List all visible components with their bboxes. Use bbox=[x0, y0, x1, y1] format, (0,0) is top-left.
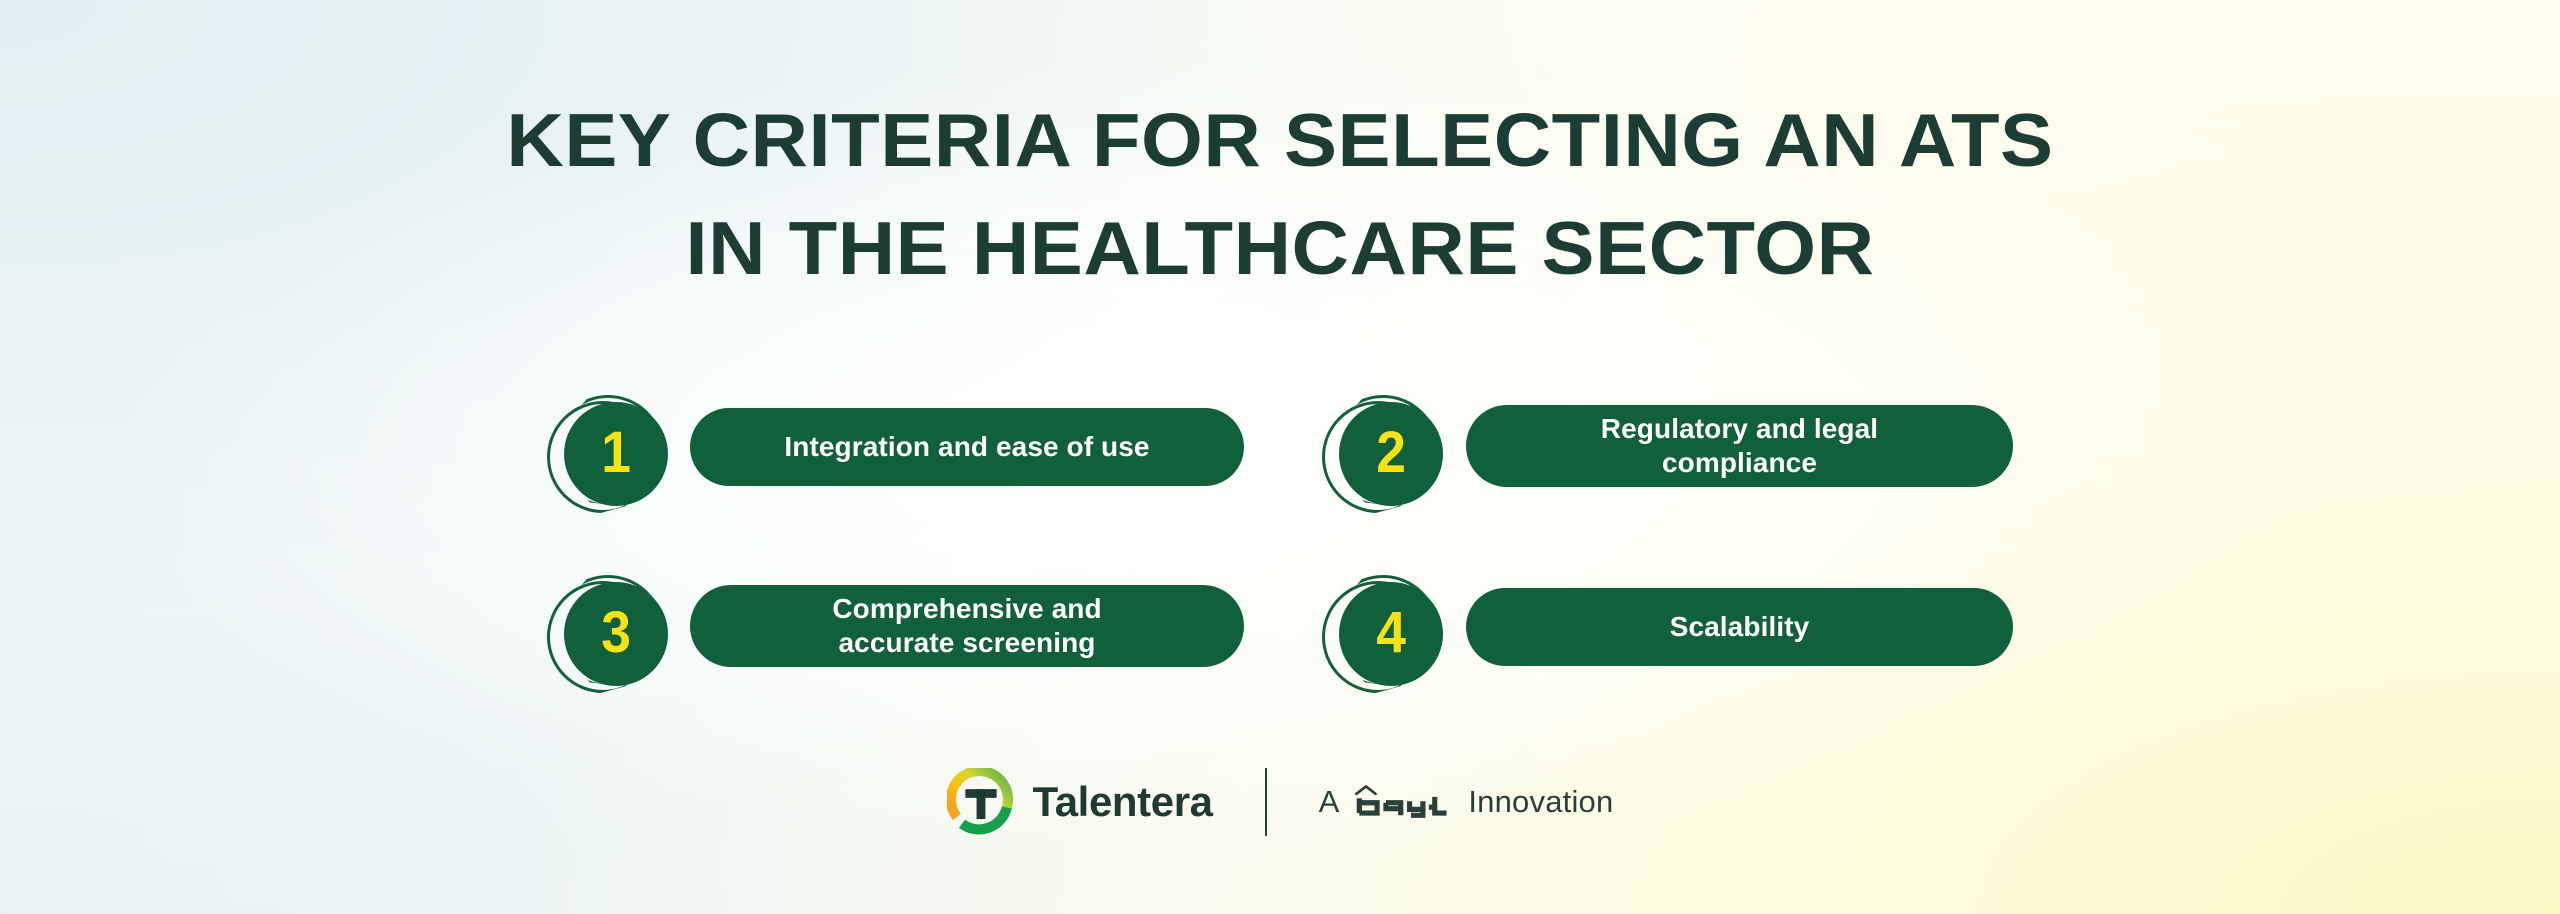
brand-name: Talentera bbox=[1033, 779, 1213, 825]
bayt-tagline: A bbox=[1319, 784, 1614, 820]
tagline-prefix: A bbox=[1319, 784, 1340, 820]
badge-disc: 4 bbox=[1339, 582, 1443, 686]
talentera-circle-mark-icon bbox=[947, 768, 1015, 836]
criterion-item-4[interactable]: 4 Scalability bbox=[1333, 578, 2063, 690]
criterion-badge-3: 3 bbox=[558, 578, 670, 690]
tagline-suffix: Innovation bbox=[1468, 784, 1613, 820]
footer-logo-lockup: Talentera A bbox=[0, 768, 2560, 836]
bayt-wordmark-icon bbox=[1349, 785, 1460, 819]
criterion-pill-4[interactable]: Scalability bbox=[1466, 588, 2013, 666]
criterion-pill-2[interactable]: Regulatory and legal compliance bbox=[1466, 405, 2013, 487]
criterion-label-2: Regulatory and legal compliance bbox=[1601, 412, 1878, 480]
criterion-pill-1[interactable]: Integration and ease of use bbox=[690, 408, 1244, 486]
criterion-badge-4: 4 bbox=[1333, 578, 1445, 690]
badge-disc: 1 bbox=[564, 402, 668, 506]
logo-divider bbox=[1265, 768, 1267, 836]
criterion-item-1[interactable]: 1 Integration and ease of use bbox=[558, 398, 1248, 510]
criterion-item-2[interactable]: 2 Regulatory and legal compliance bbox=[1333, 398, 2063, 510]
criterion-label-3: Comprehensive and accurate screening bbox=[832, 592, 1101, 660]
talentera-logo[interactable]: Talentera A bbox=[947, 768, 1614, 836]
criterion-label-4: Scalability bbox=[1670, 610, 1810, 644]
criterion-item-3[interactable]: 3 Comprehensive and accurate screening bbox=[558, 578, 1248, 690]
criterion-pill-3[interactable]: Comprehensive and accurate screening bbox=[690, 585, 1244, 667]
criterion-label-1: Integration and ease of use bbox=[784, 430, 1149, 464]
badge-disc: 3 bbox=[564, 582, 668, 686]
badge-disc: 2 bbox=[1339, 402, 1443, 506]
criterion-number-3: 3 bbox=[601, 604, 631, 665]
criterion-number-4: 4 bbox=[1376, 604, 1406, 665]
infographic-stage: KEY CRITERIA FOR SELECTING AN ATS IN THE… bbox=[0, 0, 2560, 914]
criterion-number-2: 2 bbox=[1376, 424, 1406, 485]
criterion-badge-2: 2 bbox=[1333, 398, 1445, 510]
criterion-badge-1: 1 bbox=[558, 398, 670, 510]
criterion-number-1: 1 bbox=[601, 424, 631, 485]
